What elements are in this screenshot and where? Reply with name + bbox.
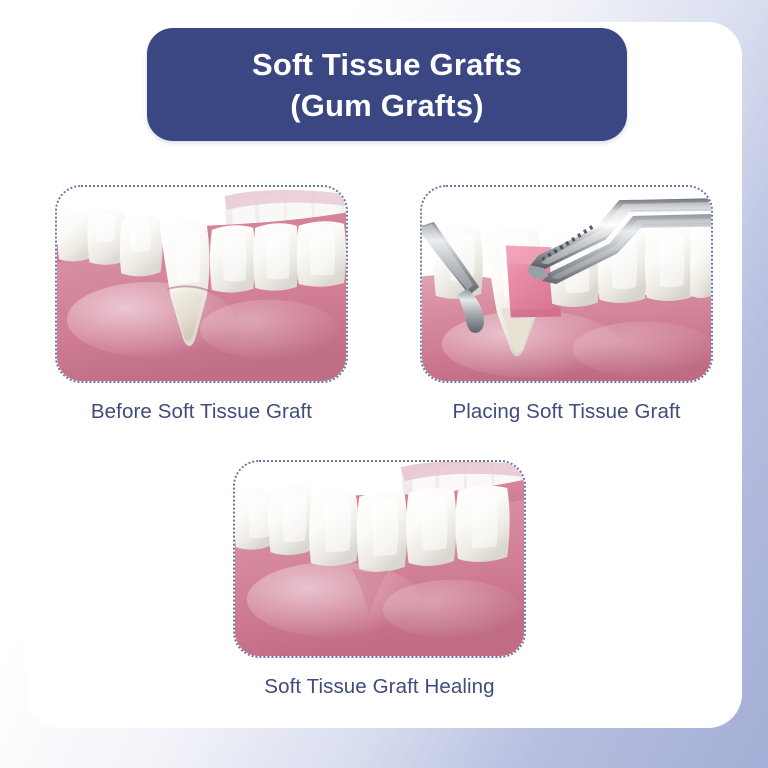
illustration-graft-placement — [422, 187, 711, 381]
panel-graft-healing: Soft Tissue Graft Healing — [233, 460, 526, 699]
panel-before-graft: Before Soft Tissue Graft — [55, 185, 348, 424]
panel-graft-healing-frame — [233, 460, 526, 658]
title-banner: Soft Tissue Grafts (Gum Grafts) — [147, 28, 627, 141]
teeth-right — [210, 221, 346, 292]
page-root: Soft Tissue Grafts (Gum Grafts) — [0, 0, 768, 768]
panel-before-graft-caption: Before Soft Tissue Graft — [55, 400, 348, 424]
illustration-gum-recession — [57, 187, 346, 381]
panel-before-graft-frame — [55, 185, 348, 383]
panel-placing-graft-caption: Placing Soft Tissue Graft — [420, 400, 713, 424]
panel-graft-healing-caption: Soft Tissue Graft Healing — [233, 675, 526, 699]
panel-placing-graft-frame — [420, 185, 713, 383]
title-line-2: (Gum Grafts) — [290, 85, 484, 126]
title-line-1: Soft Tissue Grafts — [252, 44, 522, 85]
panel-placing-graft: Placing Soft Tissue Graft — [420, 185, 713, 424]
illustration-healed-gums — [235, 462, 524, 656]
